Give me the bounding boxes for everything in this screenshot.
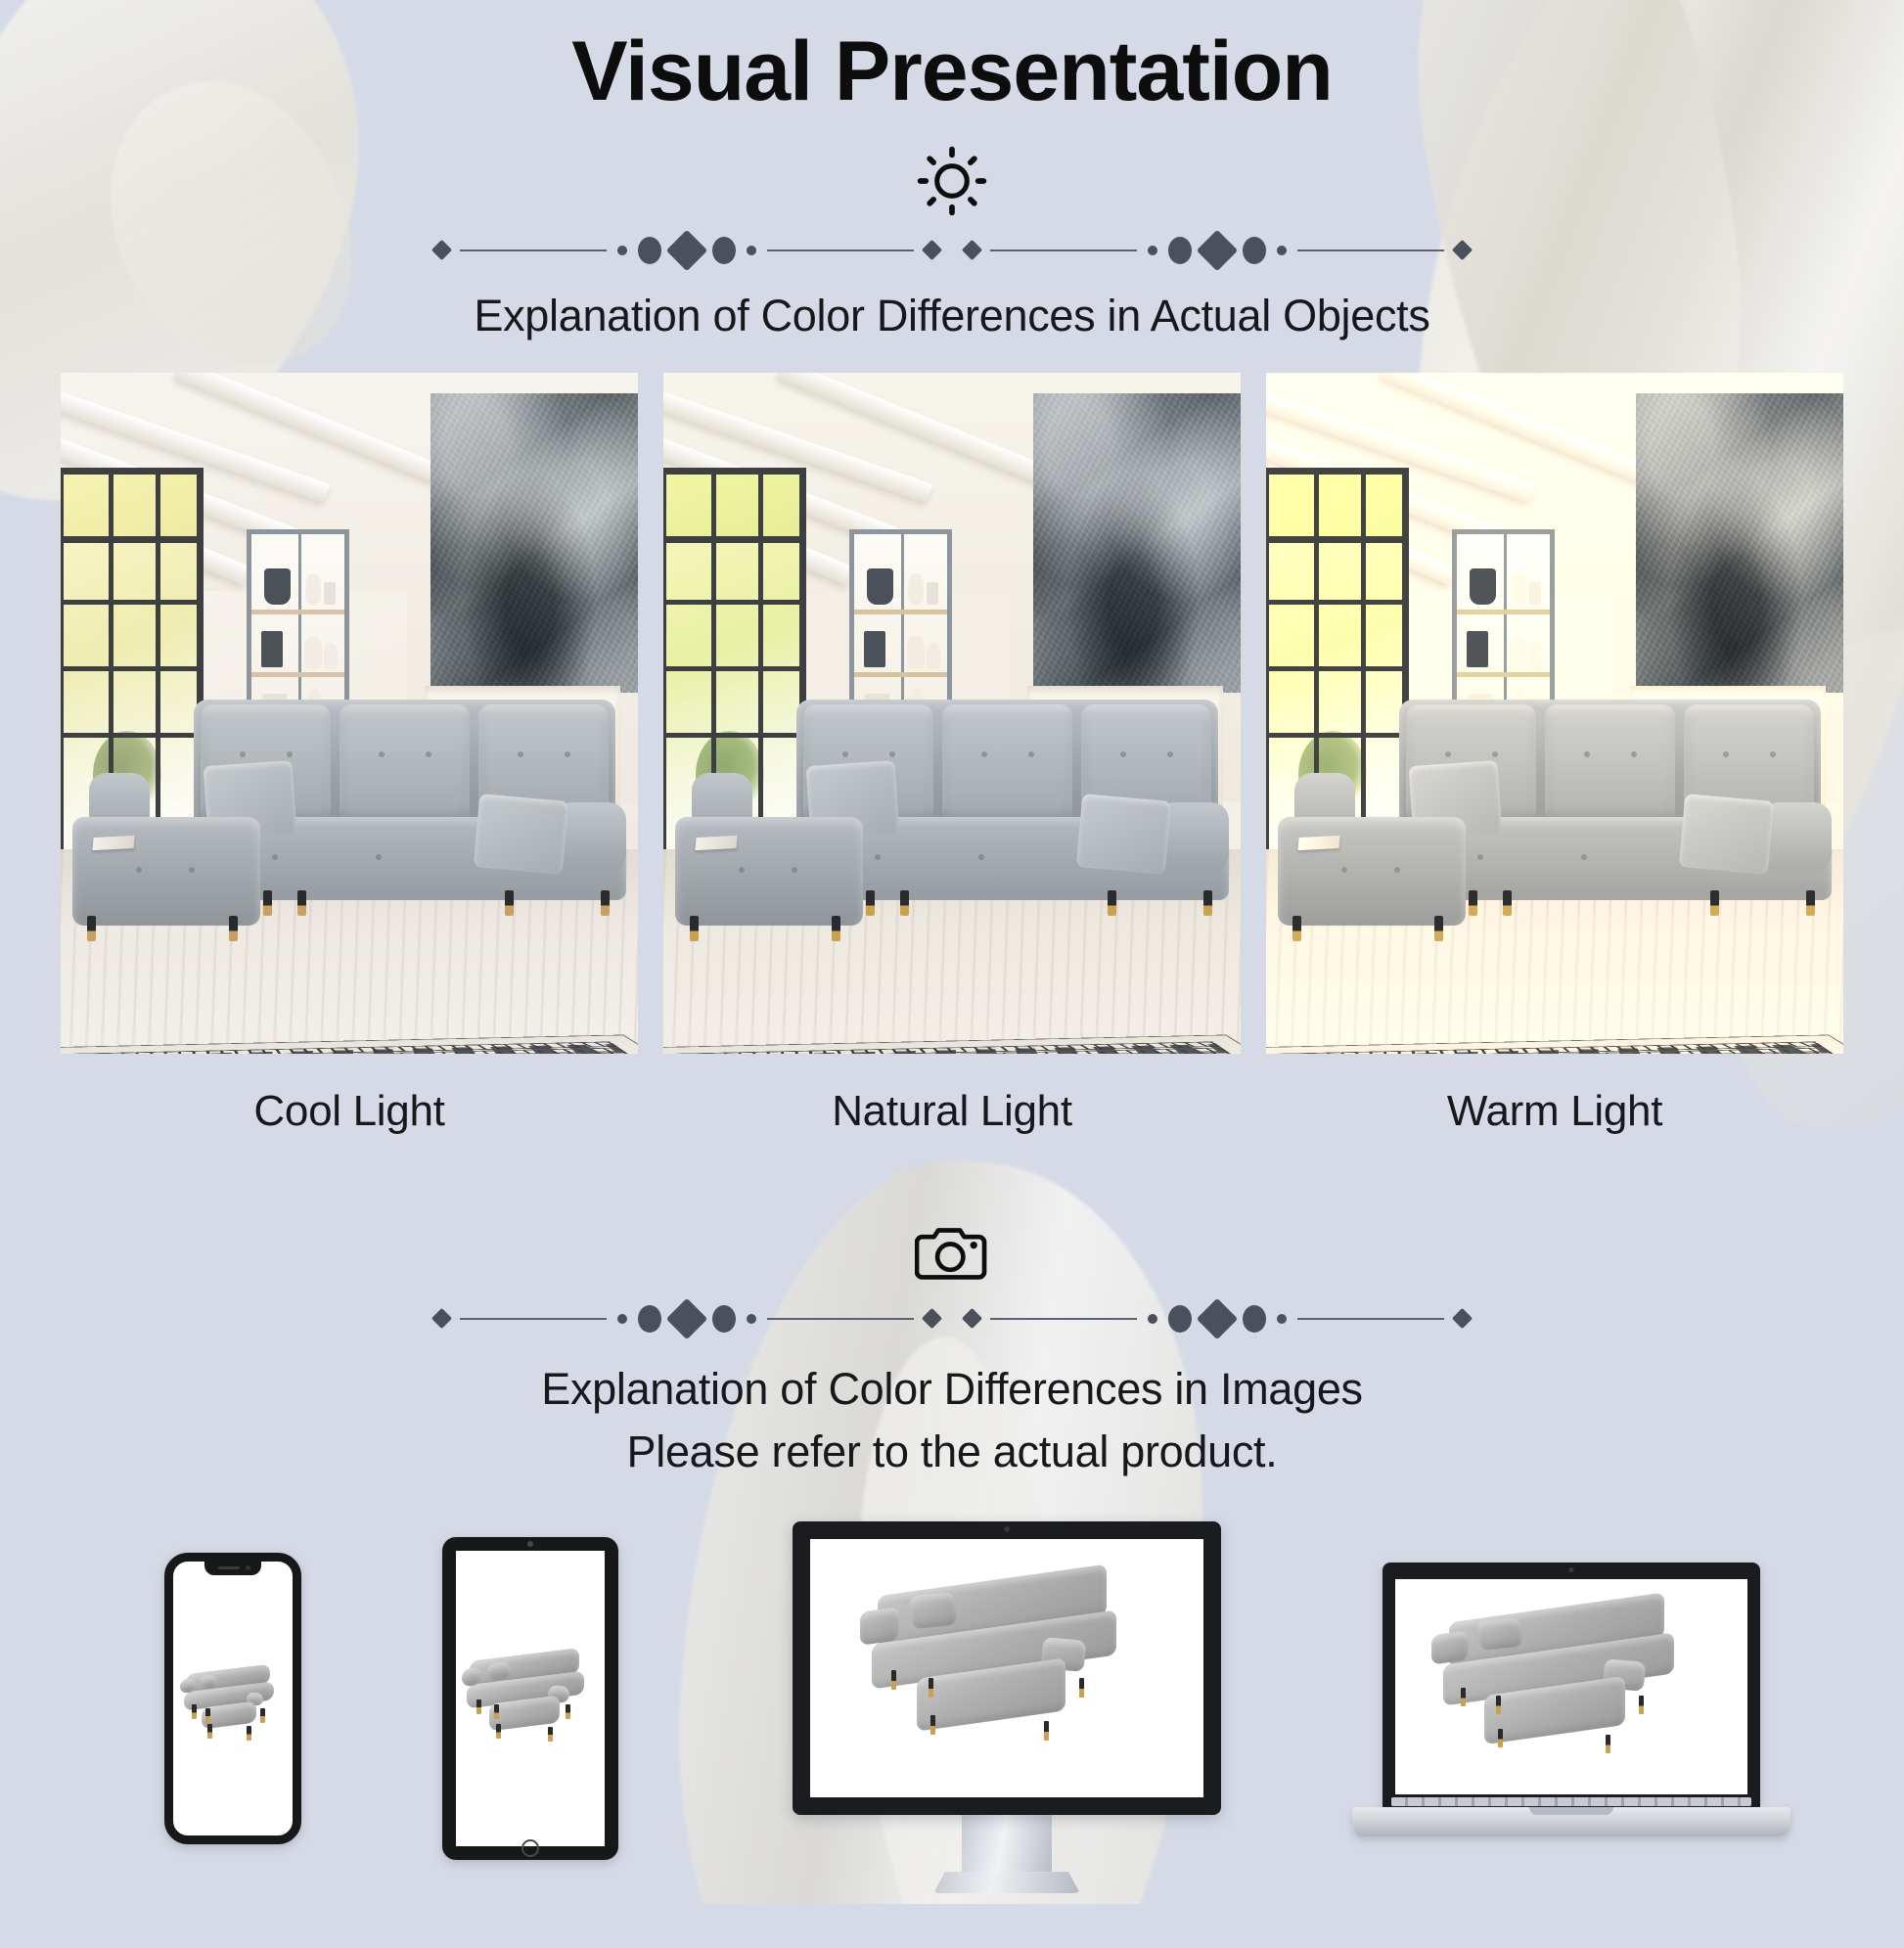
ornament-dot-small xyxy=(1148,246,1157,255)
monitor-stand-base xyxy=(933,1872,1080,1893)
images-title-line2: Please refer to the actual product. xyxy=(0,1422,1904,1482)
device-laptop xyxy=(1352,1563,1791,1856)
ornament-dot-medium xyxy=(638,237,661,264)
magazine xyxy=(92,836,134,851)
ceiling-beam xyxy=(1380,373,1668,491)
laptop-base xyxy=(1352,1807,1791,1836)
ornament-divider-bottom xyxy=(0,1304,1904,1334)
product-render-monitor xyxy=(810,1539,1203,1797)
ornament-divider-top xyxy=(0,236,1904,265)
throw-pillow xyxy=(1076,793,1171,875)
camera-icon-row xyxy=(0,1220,1904,1285)
ornament-dot-medium xyxy=(638,1305,661,1333)
ornament-diamond-small xyxy=(431,240,452,260)
tablet-body xyxy=(442,1537,618,1860)
room-photo-cool xyxy=(61,373,638,1054)
ornament-dot-small xyxy=(747,1314,756,1324)
ornament-dot-medium xyxy=(1243,237,1266,264)
ornament-diamond-large xyxy=(666,1298,707,1339)
sectional-sofa xyxy=(1278,700,1832,945)
ornament-line xyxy=(990,249,1137,251)
ornament-dot-medium xyxy=(712,237,736,264)
device-mockup-row xyxy=(0,1527,1904,1948)
photo-card-warm: Warm Light xyxy=(1266,373,1843,1136)
chaise-ottoman xyxy=(1278,817,1467,925)
chaise-ottoman xyxy=(72,817,261,925)
throw-pillow xyxy=(1679,793,1774,875)
ornament-dot-medium xyxy=(1168,237,1192,264)
laptop-camera-icon xyxy=(1568,1567,1573,1572)
ornament-diamond-small xyxy=(922,240,942,260)
wall-art-panel xyxy=(431,393,638,693)
ornament-line xyxy=(460,1318,607,1320)
room-photo-natural xyxy=(663,373,1241,1054)
magazine xyxy=(1297,836,1339,851)
ceiling-beam xyxy=(777,373,1065,491)
objects-subtitle: Explanation of Color Differences in Actu… xyxy=(0,291,1904,341)
ornament-diamond-large xyxy=(1197,1298,1238,1339)
product-render-laptop xyxy=(1395,1579,1746,1794)
sectional-sofa xyxy=(72,700,626,945)
area-rug xyxy=(1266,1034,1843,1054)
sectional-sofa xyxy=(675,700,1229,945)
phone-body xyxy=(164,1553,301,1844)
photo-card-cool: Cool Light xyxy=(61,373,638,1136)
page-title: Visual Presentation xyxy=(0,0,1904,120)
photo-caption-cool: Cool Light xyxy=(61,1087,638,1136)
ornament-dot-small xyxy=(1148,1314,1157,1324)
ornament-diamond-small xyxy=(431,1308,452,1329)
ornament-diamond-large xyxy=(1197,230,1238,271)
laptop-keyboard[interactable] xyxy=(1391,1797,1750,1806)
ornament-diamond-small xyxy=(1452,240,1473,260)
ornament-line xyxy=(990,1318,1137,1320)
monitor-stand-neck xyxy=(962,1815,1052,1872)
ornament-dot-small xyxy=(1277,1314,1287,1324)
ornament-dot-small xyxy=(747,246,756,255)
ornament-dot-small xyxy=(617,246,627,255)
ornament-line xyxy=(460,249,607,251)
ornament-diamond-small xyxy=(962,1308,982,1329)
images-title-line1: Explanation of Color Differences in Imag… xyxy=(0,1359,1904,1420)
device-monitor xyxy=(793,1521,1221,1913)
monitor-screen xyxy=(793,1521,1221,1815)
ornament-line xyxy=(767,1318,914,1320)
photo-caption-natural: Natural Light xyxy=(663,1087,1241,1136)
area-rug xyxy=(61,1034,638,1054)
wall-art-panel xyxy=(1033,393,1241,693)
throw-pillow xyxy=(474,793,568,875)
device-phone xyxy=(164,1553,301,1844)
magazine xyxy=(695,836,737,851)
device-tablet xyxy=(442,1537,618,1860)
ceiling-beam xyxy=(174,373,463,491)
photo-card-natural: Natural Light xyxy=(663,373,1241,1136)
chaise-ottoman xyxy=(675,817,864,925)
ornament-diamond-large xyxy=(666,230,707,271)
room-photo-row: Cool Light xyxy=(61,373,1843,1136)
laptop-trackpad[interactable] xyxy=(1529,1807,1613,1815)
sun-icon xyxy=(917,146,987,216)
sun-icon-row xyxy=(0,146,1904,216)
ornament-dot-medium xyxy=(712,1305,736,1333)
tablet-camera-icon xyxy=(527,1541,533,1547)
laptop-screen xyxy=(1383,1563,1759,1807)
room-photo-warm xyxy=(1266,373,1843,1054)
product-render-tablet xyxy=(456,1551,605,1846)
ornament-line xyxy=(767,249,914,251)
ornament-diamond-small xyxy=(962,240,982,260)
ornament-line xyxy=(1297,1318,1444,1320)
photo-caption-warm: Warm Light xyxy=(1266,1087,1843,1136)
camera-icon xyxy=(915,1220,989,1285)
ornament-dot-medium xyxy=(1243,1305,1266,1333)
wall-art-panel xyxy=(1636,393,1843,693)
ornament-diamond-small xyxy=(1452,1308,1473,1329)
monitor-camera-icon xyxy=(1004,1526,1010,1532)
ornament-dot-small xyxy=(1277,246,1287,255)
ornament-line xyxy=(1297,249,1444,251)
ornament-dot-small xyxy=(617,1314,627,1324)
area-rug xyxy=(663,1034,1241,1054)
product-render-phone xyxy=(173,1562,293,1835)
ornament-dot-medium xyxy=(1168,1305,1192,1333)
ornament-diamond-small xyxy=(922,1308,942,1329)
